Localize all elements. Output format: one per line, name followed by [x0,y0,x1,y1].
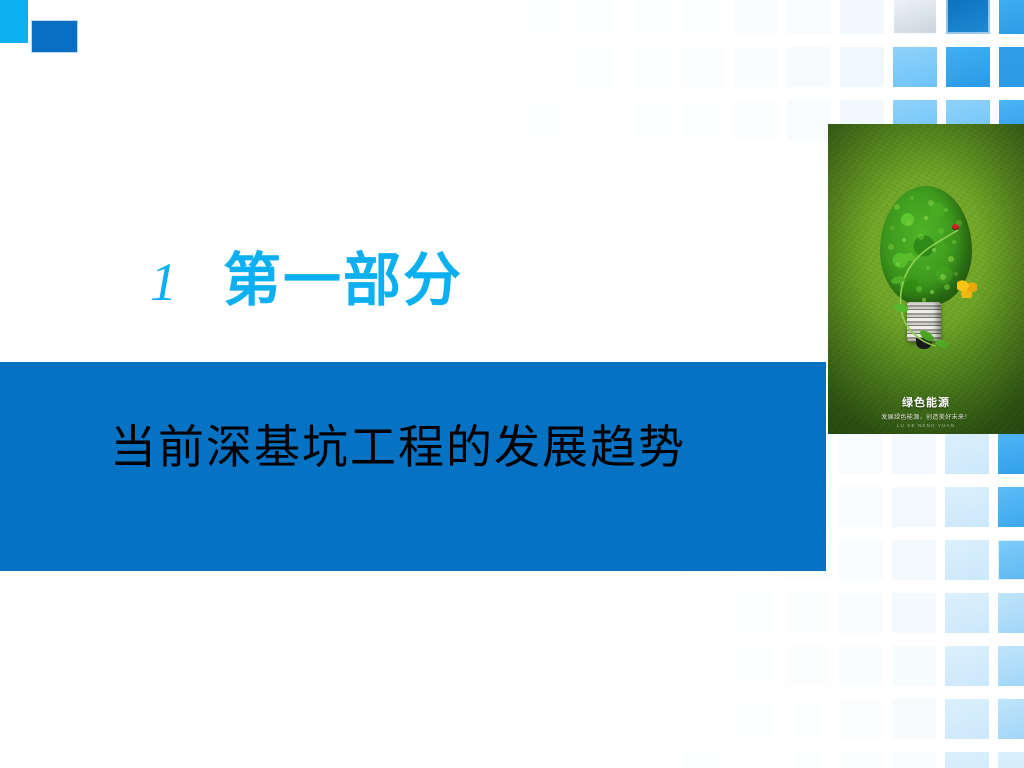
mosaic-tile [680,593,724,633]
mosaic-tile [839,752,883,768]
mosaic-tile [681,47,725,87]
mosaic-tile [998,434,1024,474]
mosaic-tile [839,593,883,633]
mosaic-tile [575,100,619,140]
mosaic-tile [892,487,936,527]
mosaic-tile [892,752,936,768]
mosaic-tile [892,434,936,474]
mosaic-tile [733,593,777,633]
mosaic-tile [787,47,831,87]
mosaic-tile [681,0,725,34]
page-title: 当前深基坑工程的发展趋势 [110,424,686,470]
mosaic-tile [733,646,777,686]
slide-canvas: 绿色能源 发展绿色能源，创造美好未来！ LU SE NENG YUAN 1 第一… [0,0,1024,768]
mosaic-tile [628,0,672,34]
poster-vignette [828,124,1024,434]
mosaic-tile [628,100,672,140]
mosaic-tile [786,593,830,633]
mosaic-tile [999,0,1024,34]
section-number: 1 [150,255,177,309]
mosaic-tile [945,540,989,580]
mosaic-tile [733,699,777,739]
poster-pinyin: LU SE NENG YUAN [828,423,1024,428]
mosaic-tile [522,0,566,34]
mosaic-tile [998,593,1024,633]
mosaic-tile [786,752,830,768]
mosaic-tile [680,699,724,739]
mosaic-tile [522,100,566,140]
mosaic-tile [680,646,724,686]
mosaic-tile [945,646,989,686]
mosaic-tile [892,699,936,739]
mosaic-tile [998,752,1024,768]
mosaic-tile [575,47,619,87]
mosaic-tile [893,47,937,87]
poster-subtitle: 发展绿色能源，创造美好未来！ [828,412,1024,421]
mosaic-tile [680,752,724,768]
green-energy-poster-image: 绿色能源 发展绿色能源，创造美好未来！ LU SE NENG YUAN [828,124,1024,434]
mosaic-tile [787,100,831,140]
mosaic-tile [945,593,989,633]
section-heading: 1 第一部分 [150,252,463,310]
mosaic-tile [892,540,936,580]
mosaic-tile [893,0,937,34]
section-label: 第一部分 [223,252,463,310]
mosaic-tile [628,47,672,87]
mosaic-tile [945,434,989,474]
mosaic-tile [681,100,725,140]
corner-accent-cyan-square [0,0,28,43]
mosaic-tile [945,699,989,739]
mosaic-tile [999,47,1024,87]
mosaic-tile [575,0,619,34]
mosaic-tile [733,752,777,768]
mosaic-tile [839,540,883,580]
mosaic-tile [892,646,936,686]
mosaic-tile [786,646,830,686]
mosaic-tile [734,0,778,34]
mosaic-tile [734,47,778,87]
mosaic-tile [998,487,1024,527]
mosaic-tile [839,487,883,527]
mosaic-tile [787,0,831,34]
mosaic-top-right [522,0,1024,139]
mosaic-tile [945,752,989,768]
mosaic-tile [786,699,830,739]
mosaic-tile [839,434,883,474]
mosaic-tile [840,47,884,87]
mosaic-tile [522,47,566,87]
poster-title: 绿色能源 [828,394,1024,410]
mosaic-tile [892,593,936,633]
mosaic-tile [840,0,884,34]
mosaic-tile [946,0,990,34]
mosaic-tile [839,699,883,739]
mosaic-tile [998,699,1024,739]
mosaic-tile [945,487,989,527]
mosaic-tile [998,646,1024,686]
mosaic-tile [839,646,883,686]
corner-accent-blue-square [32,21,77,52]
mosaic-tile [734,100,778,140]
mosaic-tile [998,540,1024,580]
mosaic-tile [946,47,990,87]
